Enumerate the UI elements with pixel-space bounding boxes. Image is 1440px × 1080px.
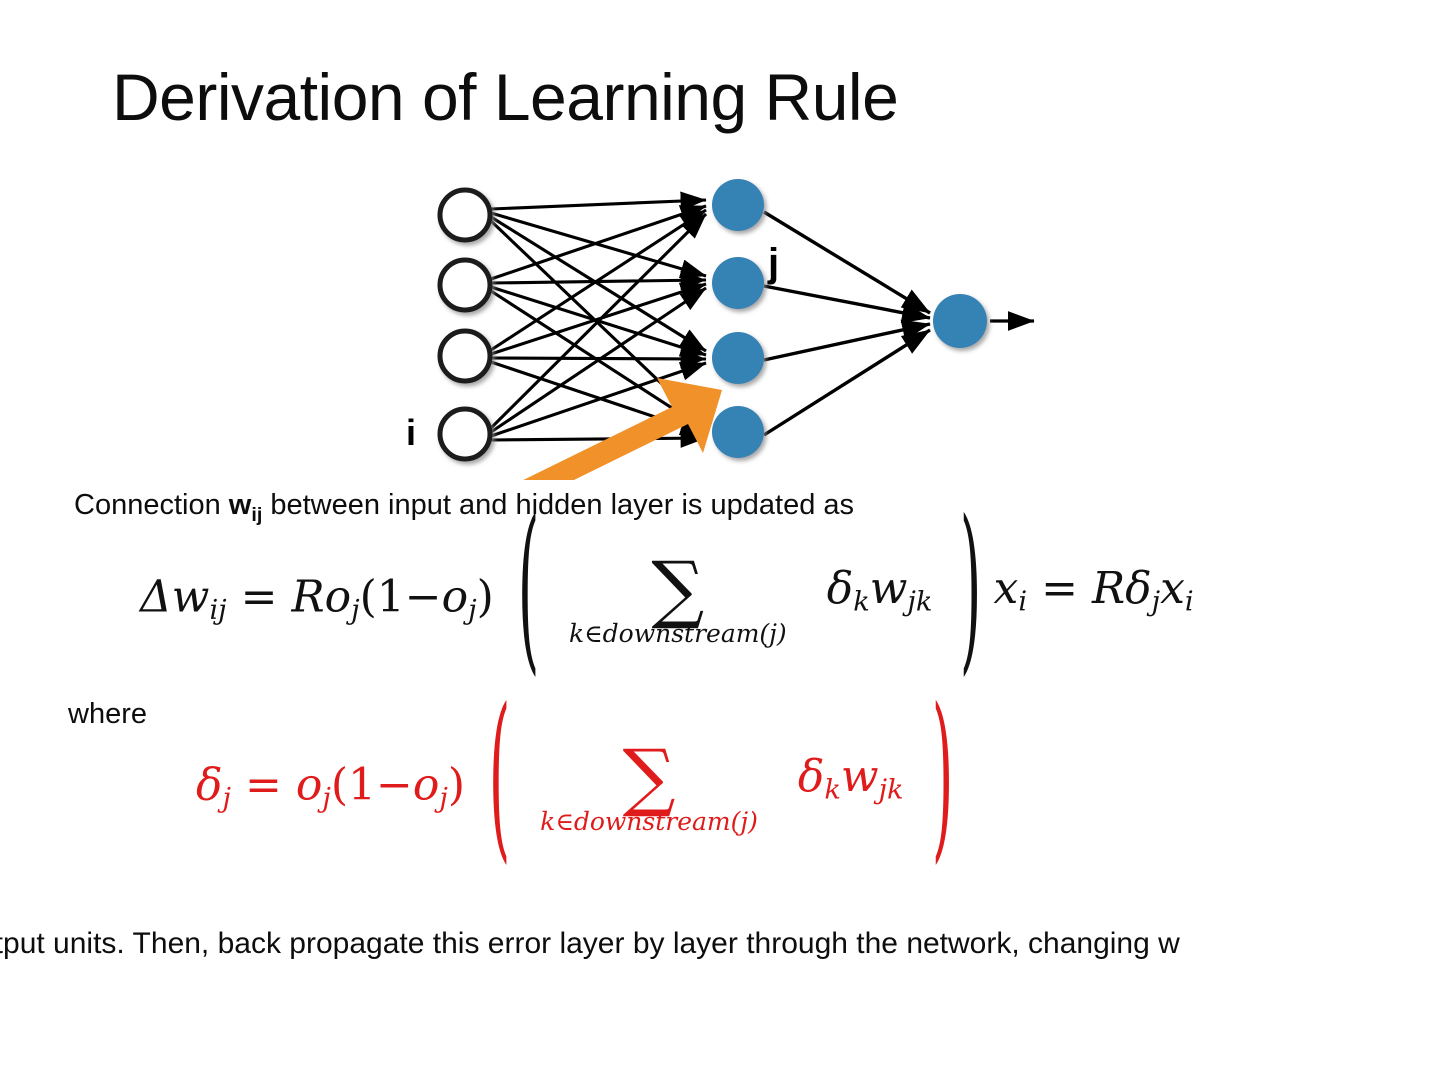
eq-main-tail-equals: =: [1041, 563, 1078, 614]
eq-red-sum-delta: δ: [798, 751, 825, 802]
eq-red-summation: ∑k∈downstream(j): [540, 748, 758, 836]
eq-main-tail-R: R: [1092, 563, 1125, 614]
eq-red-sum-limit: k∈downstream(j): [540, 808, 758, 836]
caption-weight-letter: w: [229, 489, 252, 521]
eq-red-sum-operand: δkwjk: [798, 751, 904, 806]
eq-main-lhs-sub: ij: [209, 595, 226, 626]
input-layer-label: i: [406, 412, 416, 453]
eq-main-lhs-delta: Δ: [140, 572, 172, 623]
eq-main-big-open-paren: (: [518, 484, 539, 693]
eq-main-tail: xi = Rδjxi: [994, 563, 1194, 618]
eq-red-o-sub: j: [322, 783, 330, 814]
eq-main-close-paren: ): [477, 572, 494, 623]
eq-main-big-close-paren: ): [960, 484, 981, 693]
eq-main-sum-limit: k∈downstream(j): [569, 620, 787, 648]
eq-red-minus: −: [376, 760, 413, 811]
eq-red-delta-sub: j: [223, 783, 231, 814]
hidden-layer-label: j: [767, 241, 779, 285]
eq-main-tail-x-sub: i: [1185, 586, 1194, 617]
eq-main-x: x: [994, 563, 1019, 614]
eq-red-open-paren: (: [331, 760, 348, 811]
input-layer-nodes: [440, 190, 490, 459]
eq-red-big-open-paren: (: [489, 672, 510, 881]
caption-prefix: Connection: [74, 489, 229, 521]
eq-red-delta: δ: [196, 760, 223, 811]
eq-main-o: o: [325, 572, 352, 623]
neural-network-diagram: i j: [0, 150, 1440, 480]
eq-main-tail-delta: δ: [1125, 563, 1152, 614]
eq-main-equals: =: [241, 572, 278, 623]
eq-main-sum-delta: δ: [827, 563, 854, 614]
input-node-4: [440, 409, 490, 459]
eq-red-equals: =: [245, 760, 282, 811]
eq-main-o2: o: [442, 572, 469, 623]
eq-main-o-sub: j: [351, 595, 359, 626]
eq-red-sum-w-sub: jk: [879, 774, 904, 805]
eq-red-o2-sub: j: [439, 783, 447, 814]
eq-red-o2: o: [413, 760, 440, 811]
eq-main-sum-sign: ∑: [569, 560, 787, 618]
input-node-2: [440, 260, 490, 310]
input-node-1: [440, 190, 490, 240]
caption-weight-symbol: wij: [229, 489, 263, 521]
eq-main-R: R: [292, 572, 325, 623]
eq-red-sum-w: w: [841, 751, 879, 802]
hidden-to-output-connections: [764, 212, 930, 435]
page-title: Derivation of Learning Rule: [112, 58, 898, 136]
hidden-layer-nodes: [712, 179, 764, 458]
where-label: where: [68, 696, 147, 732]
eq-main-tail-delta-sub: j: [1152, 586, 1160, 617]
eq-main-x-sub: i: [1018, 586, 1027, 617]
eq-main-lhs-w: w: [172, 572, 210, 623]
eq-main-o2-sub: j: [468, 595, 476, 626]
hidden-node-4: [712, 406, 764, 458]
eq-red-big-close-paren: ): [931, 672, 952, 881]
eq-main-sum-operand: δkwjk: [827, 563, 933, 618]
eq-main-sum-delta-sub: k: [853, 586, 870, 617]
eq-main-sum-w: w: [870, 563, 908, 614]
caption-weight-subscript: ij: [251, 504, 262, 526]
eq-red-one: 1: [348, 760, 376, 811]
input-node-3: [440, 331, 490, 381]
caption-suffix: between input and hidden layer is update…: [262, 489, 854, 521]
eq-main-open-paren: (: [360, 572, 377, 623]
eq-main-tail-x: x: [1160, 563, 1185, 614]
eq-red-close-paren: ): [448, 760, 465, 811]
output-layer-nodes: [933, 294, 987, 348]
equation-delta-w: Δwij = Roj(1−oj)(∑k∈downstream(j)δkwjk)x…: [140, 556, 1194, 644]
equation-delta-j: δj = oj(1−oj)(∑k∈downstream(j)δkwjk): [196, 744, 965, 832]
eq-red-sum-sign: ∑: [540, 748, 758, 806]
eq-main-minus: −: [405, 572, 442, 623]
eq-red-sum-delta-sub: k: [824, 774, 841, 805]
eq-red-o: o: [296, 760, 323, 811]
caption-connection-text: Connection wij between input and hidden …: [74, 487, 854, 533]
eq-main-one: 1: [377, 572, 405, 623]
hidden-node-2: [712, 257, 764, 309]
eq-main-sum-w-sub: jk: [907, 586, 932, 617]
hidden-node-1: [712, 179, 764, 231]
eq-main-summation: ∑k∈downstream(j): [569, 560, 787, 648]
hidden-node-3: [712, 332, 764, 384]
output-node-1: [933, 294, 987, 348]
bottom-overflow-text: utput units. Then, back propagate this e…: [0, 924, 1180, 964]
